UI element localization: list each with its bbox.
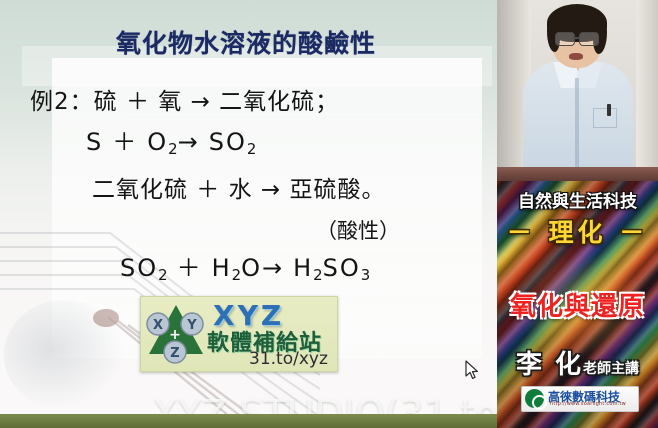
- eq2-reactant-2b: O: [241, 254, 262, 282]
- eq2-arrow: →: [262, 254, 284, 282]
- svg-text:X: X: [153, 318, 163, 333]
- eq1-arrow: →: [178, 128, 200, 156]
- svg-text:+: +: [169, 327, 181, 343]
- acidity-note: （酸性）: [316, 215, 400, 245]
- mouse-cursor: [465, 360, 479, 380]
- eq2-product-sub-1: 2: [313, 266, 322, 284]
- eq1-reactant-2: O: [147, 128, 168, 156]
- course-topic: 氧化與還原: [497, 286, 658, 323]
- company-logo-icon: [525, 389, 544, 408]
- teacher-role: 老師主講: [583, 361, 639, 377]
- instructor-glasses-bridge: [573, 37, 579, 39]
- eq1-product: SO: [209, 128, 247, 156]
- equation-chinese-2: 二氧化硫 ＋ 水 → 亞硫酸。: [92, 170, 386, 204]
- right-column: 自然與生活科技 － 理化 － 氧化與還原 李 化老師主講 高徠數碼科技 http…: [497, 0, 658, 428]
- course-name: － 理化 －: [497, 213, 658, 249]
- equation-symbolic-2: SO2＋H2O→H2SO3: [120, 248, 370, 284]
- company-logo-dot: [536, 399, 541, 404]
- course-teacher: 李 化老師主講: [497, 344, 658, 381]
- presentation-screen: 氧化物水溶液的酸鹼性 例2：硫 ＋ 氧 → 二氧化硫； S＋O2→SO2 二氧化…: [0, 0, 658, 428]
- xyz-badge-icon: X Y Z +: [145, 302, 207, 366]
- course-subject: 自然與生活科技: [497, 187, 658, 212]
- instructor-glasses-right: [579, 32, 599, 46]
- course-info-panel: 自然與生活科技 － 理化 － 氧化與還原 李 化老師主講 高徠數碼科技 http…: [497, 181, 658, 428]
- example-line: 例2：硫 ＋ 氧 → 二氧化硫；: [30, 82, 339, 116]
- equation-symbolic-1: S＋O2→SO2: [86, 122, 256, 158]
- video-desk: [497, 167, 658, 181]
- xyz-watermark-logo: X Y Z + XYZ 軟體補給站 31.to/xyz: [140, 296, 338, 372]
- instructor-pen: [607, 104, 611, 116]
- eq1-reactant-1: S: [86, 128, 103, 156]
- video-wall-right: [636, 0, 658, 181]
- instructor-shirt-placket: [575, 78, 579, 172]
- eq2-product-b: SO: [323, 254, 361, 282]
- eq1-reactant-2-sub: 2: [168, 140, 177, 158]
- slide-title: 氧化物水溶液的酸鹼性: [0, 24, 492, 60]
- eq2-product-a: H: [293, 254, 313, 282]
- svg-text:Z: Z: [170, 346, 179, 361]
- decorative-blob: [4, 300, 124, 410]
- eq2-reactant-1-sub: 2: [158, 266, 167, 284]
- company-logo[interactable]: 高徠數碼科技 http://www.soarlight.com.tw: [521, 386, 639, 412]
- eq2-plus: ＋: [177, 254, 203, 282]
- instructor-shirt-pocket: [593, 108, 617, 128]
- eq1-product-sub: 2: [247, 140, 256, 158]
- instructor-mouth: [569, 53, 583, 60]
- eq2-product-sub-2: 3: [361, 266, 370, 284]
- eq2-reactant-2-sub: 2: [232, 266, 241, 284]
- svg-text:Y: Y: [186, 318, 197, 333]
- company-url: http://www.soarlight.com.tw: [550, 401, 626, 407]
- teacher-name: 李 化: [516, 350, 583, 380]
- eq1-plus: ＋: [112, 128, 138, 156]
- eq2-reactant-1: SO: [120, 254, 158, 282]
- eq2-reactant-2a: H: [212, 254, 232, 282]
- instructor-glasses-left: [555, 32, 575, 46]
- instructor-video[interactable]: [497, 0, 658, 181]
- xyz-url-text: 31.to/xyz: [249, 349, 328, 369]
